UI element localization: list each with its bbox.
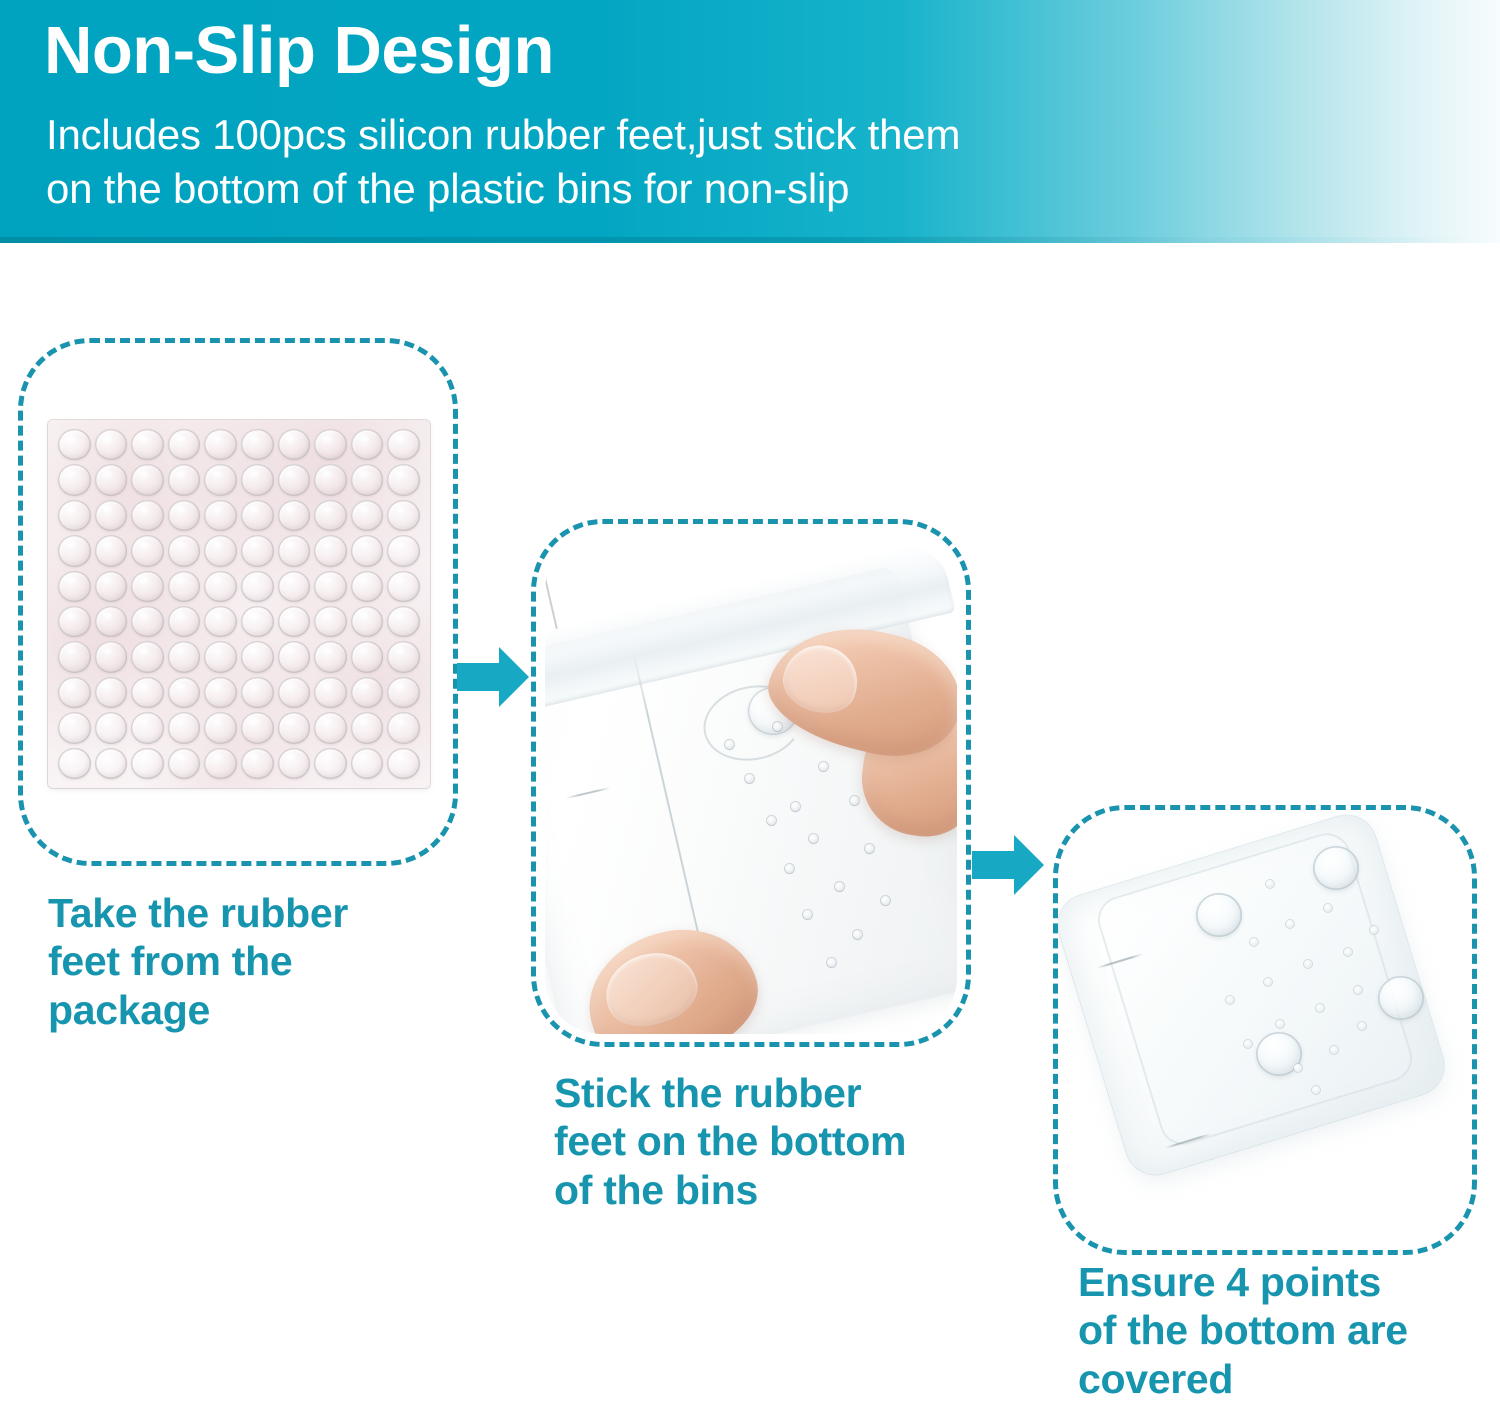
rubber-foot-dot (168, 464, 201, 495)
rubber-foot-dot (314, 748, 347, 779)
attached-rubber-foot (1378, 976, 1424, 1020)
bin-surface-dimple (1324, 904, 1332, 912)
header-banner: Non-Slip Design Includes 100pcs silicon … (0, 0, 1500, 243)
rubber-foot-dot (58, 571, 91, 602)
arrow-step-2-to-3-icon (970, 833, 1046, 897)
bin-surface-dimple (1294, 1064, 1302, 1072)
rubber-foot-dot (314, 500, 347, 531)
rubber-foot-dot (95, 712, 128, 743)
rubber-foot-dot (387, 677, 420, 708)
rubber-foot-dot (204, 606, 237, 637)
rubber-foot-dot (314, 571, 347, 602)
bin-surface-dot (785, 864, 794, 873)
rubber-foot-dot (131, 606, 164, 637)
rubber-foot-dot (351, 500, 384, 531)
rubber-foot-dot (387, 748, 420, 779)
rubber-foot-dot (387, 712, 420, 743)
rubber-foot-dot (204, 429, 237, 460)
page-title: Non-Slip Design (44, 16, 554, 86)
bin-surface-dot (745, 774, 754, 783)
rubber-foot-dot (131, 429, 164, 460)
rubber-foot-dot (387, 464, 420, 495)
bin-surface-dot (835, 882, 844, 891)
rubber-foot-dot (241, 712, 274, 743)
rubber-foot-dot (95, 677, 128, 708)
bin-surface-dot (853, 930, 862, 939)
rubber-foot-dot (241, 464, 274, 495)
rubber-foot-dot (241, 641, 274, 672)
arrow-step-1-to-2-icon (455, 645, 531, 709)
bin-surface-dimple (1286, 920, 1294, 928)
rubber-foot-dot (95, 748, 128, 779)
hand-sticking-foot-image (545, 534, 957, 1034)
bin-surface-dimple (1244, 1040, 1252, 1048)
rubber-foot-dot (131, 641, 164, 672)
bin-surface-dot (791, 802, 800, 811)
bin-surface-dimple (1354, 986, 1362, 994)
rubber-foot-dot (278, 748, 311, 779)
rubber-foot-dot (387, 641, 420, 672)
rubber-foot-dot (95, 606, 128, 637)
rubber-foot-dot (131, 500, 164, 531)
rubber-feet-sheet-image (48, 420, 430, 788)
rubber-foot-dot (58, 748, 91, 779)
bin-surface-dimple (1312, 1086, 1320, 1094)
rubber-foot-dot (241, 748, 274, 779)
rubber-foot-dot (351, 429, 384, 460)
rubber-foot-dot (95, 500, 128, 531)
rubber-foot-dot (387, 606, 420, 637)
rubber-foot-dot (168, 712, 201, 743)
rubber-foot-dot (241, 429, 274, 460)
rubber-foot-dot (168, 500, 201, 531)
rubber-foot-dot (241, 500, 274, 531)
bin-surface-dot (773, 722, 782, 731)
rubber-foot-dot (351, 571, 384, 602)
page-subtitle: Includes 100pcs silicon rubber feet,just… (46, 108, 960, 216)
attached-rubber-foot (1196, 893, 1242, 937)
rubber-foot-dot (314, 677, 347, 708)
bin-surface-dot (809, 834, 818, 843)
bin-surface-dot (819, 762, 828, 771)
rubber-foot-dot (168, 571, 201, 602)
rubber-foot-dot (278, 677, 311, 708)
bin-surface-dot (850, 796, 859, 805)
rubber-foot-dot (278, 500, 311, 531)
rubber-foot-dot (241, 571, 274, 602)
bin-surface-dimple (1316, 1004, 1324, 1012)
rubber-foot-dot (95, 464, 128, 495)
rubber-foot-dot (278, 712, 311, 743)
rubber-foot-dot (95, 535, 128, 566)
bin-surface-dot (881, 896, 890, 905)
rubber-feet-grid (56, 427, 422, 781)
bin-surface-dimple (1358, 1022, 1366, 1030)
bin-surface-dimple (1276, 1020, 1284, 1028)
rubber-foot-dot (387, 535, 420, 566)
rubber-foot-dot (204, 677, 237, 708)
bin-surface-dimple (1330, 1046, 1338, 1054)
rubber-foot-dot (95, 429, 128, 460)
rubber-foot-dot (58, 429, 91, 460)
rubber-foot-dot (131, 571, 164, 602)
rubber-foot-dot (95, 641, 128, 672)
bin-surface-dot (725, 740, 734, 749)
rubber-foot-dot (314, 712, 347, 743)
rubber-foot-dot (241, 606, 274, 637)
rubber-foot-dot (278, 535, 311, 566)
rubber-foot-dot (351, 712, 384, 743)
bin-surface-dimple (1266, 880, 1274, 888)
rubber-foot-dot (131, 748, 164, 779)
step-2-caption: Stick the rubber feet on the bottom of t… (554, 1069, 984, 1214)
step-1-caption: Take the rubber feet from the package (48, 889, 468, 1034)
rubber-foot-dot (168, 429, 201, 460)
rubber-foot-dot (278, 429, 311, 460)
rubber-foot-dot (351, 606, 384, 637)
rubber-foot-dot (131, 464, 164, 495)
rubber-foot-dot (387, 429, 420, 460)
rubber-foot-dot (351, 464, 384, 495)
rubber-foot-dot (278, 464, 311, 495)
rubber-foot-dot (168, 677, 201, 708)
rubber-foot-dot (58, 641, 91, 672)
rubber-foot-dot (204, 500, 237, 531)
rubber-foot-dot (351, 641, 384, 672)
rubber-foot-dot (351, 677, 384, 708)
rubber-foot-dot (241, 535, 274, 566)
rubber-foot-dot (168, 748, 201, 779)
rubber-foot-dot (314, 641, 347, 672)
rubber-foot-dot (58, 677, 91, 708)
rubber-foot-dot (204, 464, 237, 495)
rubber-foot-dot (314, 535, 347, 566)
bin-bottom-with-feet-image (1058, 808, 1478, 1248)
bin-surface-dimple (1250, 938, 1258, 946)
rubber-foot-dot (278, 571, 311, 602)
rubber-foot-dot (58, 712, 91, 743)
bin-surface-dot (803, 910, 812, 919)
bin-surface-dimple (1264, 978, 1272, 986)
rubber-foot-dot (131, 535, 164, 566)
rubber-foot-dot (168, 606, 201, 637)
rubber-foot-dot (131, 677, 164, 708)
bin-surface-dimple (1226, 996, 1234, 1004)
rubber-foot-dot (204, 641, 237, 672)
rubber-foot-dot (131, 712, 164, 743)
rubber-foot-dot (58, 535, 91, 566)
rubber-foot-dot (95, 571, 128, 602)
attached-rubber-foot (1313, 846, 1359, 890)
rubber-foot-dot (278, 606, 311, 637)
bin-surface-dot (865, 844, 874, 853)
rubber-foot-dot (241, 677, 274, 708)
rubber-foot-dot (314, 464, 347, 495)
bin-surface-dimple (1370, 926, 1378, 934)
rubber-foot-dot (204, 748, 237, 779)
rubber-foot-dot (314, 429, 347, 460)
rubber-foot-dot (204, 571, 237, 602)
rubber-foot-dot (204, 535, 237, 566)
rubber-foot-dot (314, 606, 347, 637)
bin-surface-dimple (1304, 960, 1312, 968)
bin-surface-dot (767, 816, 776, 825)
rubber-foot-dot (58, 464, 91, 495)
rubber-foot-dot (387, 500, 420, 531)
rubber-foot-dot (204, 712, 237, 743)
rubber-foot-dot (58, 606, 91, 637)
rubber-foot-dot (351, 535, 384, 566)
step-3-caption: Ensure 4 points of the bottom are covere… (1078, 1258, 1498, 1403)
rubber-foot-dot (58, 500, 91, 531)
bin-surface-dot (827, 958, 836, 967)
rubber-foot-dot (278, 641, 311, 672)
bin-surface-dimple (1344, 948, 1352, 956)
rubber-foot-dot (351, 748, 384, 779)
rubber-foot-dot (168, 535, 201, 566)
rubber-foot-dot (387, 571, 420, 602)
rubber-foot-dot (168, 641, 201, 672)
